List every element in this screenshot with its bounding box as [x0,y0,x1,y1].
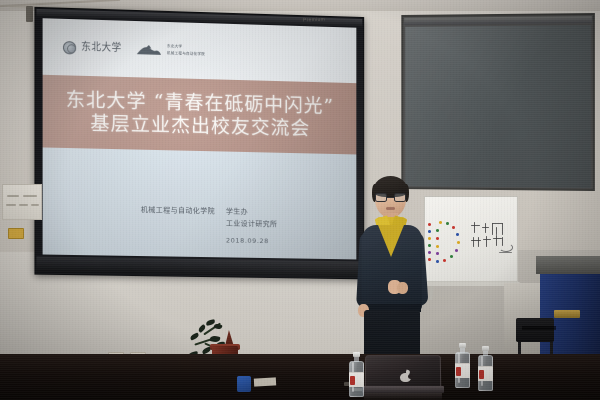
blackboard-sheen [405,25,591,188]
laptop[interactable] [362,355,444,400]
screen-mount-bracket [26,6,33,22]
slide-date: 2018.09.28 [226,236,277,245]
presentation-slide: 东北大学 东北大学 机械工程与自动化学院 [43,18,357,259]
slide-title-line-2: 基层立业杰出校友交流会 [90,113,310,140]
paper-scrap [254,377,276,386]
blackboard-surface [405,25,591,188]
flipchart-board [424,196,518,282]
chair-slat [522,326,556,330]
slide-organizer-1: 学生办 [226,208,277,216]
slide-organizers: 学生办 工业设计研究所 2018.09.28 [226,208,277,245]
table-top [0,354,600,400]
neu-wordmark: 东北大学 [81,42,121,54]
laptop-base [362,386,444,393]
school-mountain-mark-icon [136,43,162,57]
slide-logo-bar: 东北大学 东北大学 机械工程与自动化学院 [43,18,357,83]
school-logo-line2: 机械工程与自动化学院 [167,51,205,57]
school-logo-line1: 东北大学 [167,44,205,50]
laptop-lid [365,355,442,388]
apple-logo-icon [400,370,411,382]
neu-university-seal-icon [63,41,76,54]
projector-brand-text: Premium [303,17,325,24]
projection-screen: 东北大学 东北大学 机械工程与自动化学院 [34,7,364,280]
blue-object [237,376,251,392]
slide-department: 机械工程与自动化学院 [141,207,215,216]
slide-credits: 机械工程与自动化学院 学生办 工业设计研究所 2018.09.28 [141,207,278,245]
wall-paper-sign [2,184,42,220]
school-logo-text: 东北大学 机械工程与自动化学院 [167,44,205,57]
chair-back [516,318,554,342]
slide-organizer-2: 工业设计研究所 [226,220,277,228]
projection-screen-surface: 东北大学 东北大学 机械工程与自动化学院 [43,18,357,259]
slide-title-band: 东北大学 “青春在砥砺中闪光” 基层立业杰出校友交流会 [43,75,357,155]
presenter-vneck-opening [378,225,404,257]
school-logo: 东北大学 机械工程与自动化学院 [136,43,205,58]
cabinet-top [536,256,600,274]
wall-brass-plate [8,228,24,239]
conference-table [0,348,600,400]
slide-body: 机械工程与自动化学院 学生办 工业设计研究所 2018.09.28 [43,147,357,259]
eyeglasses-icon [375,193,406,202]
neu-logo: 东北大学 [63,41,122,56]
classroom-photo: 东北大学 东北大学 机械工程与自动化学院 [0,0,600,400]
laptop-reflection [364,393,442,400]
presenter-hand-right-2 [397,282,408,294]
cabinet-brass-plate [554,310,580,318]
flipchart-handwriting [469,221,517,261]
presenter-mouth [386,207,395,210]
blackboard [401,13,595,191]
